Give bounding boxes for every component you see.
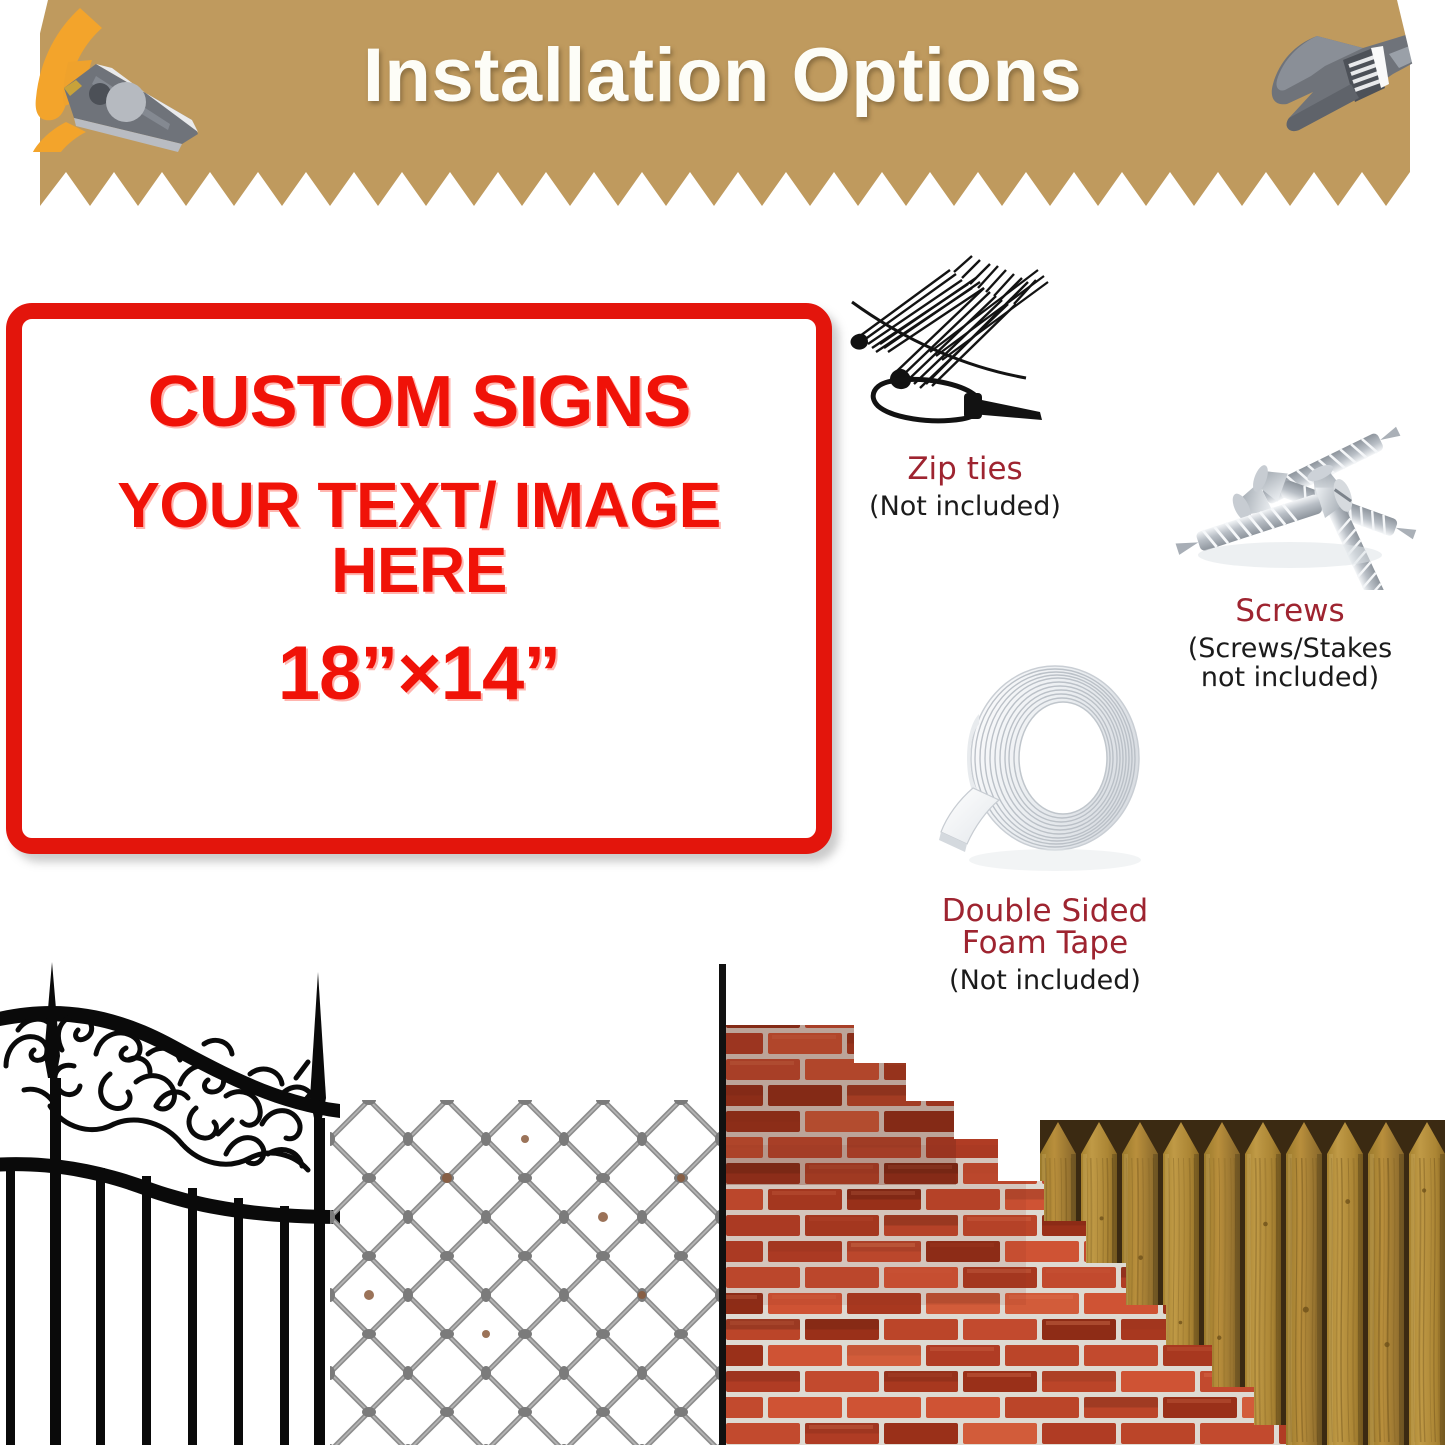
sign-subline: YOUR TEXT/ IMAGE HERE [22, 473, 816, 604]
brick-wall-icon [726, 1005, 1286, 1445]
chain-link-fence-icon [330, 1100, 720, 1445]
custom-sign-preview: CUSTOM SIGNS YOUR TEXT/ IMAGE HERE 18”×1… [6, 303, 832, 854]
wrought-iron-gate-icon [0, 958, 350, 1445]
header-banner: Installation Options [0, 0, 1445, 200]
tape-roll-icon [895, 660, 1195, 890]
sawtooth-edge-icon [40, 168, 1410, 208]
screws-icon [1140, 405, 1440, 590]
accessory-screws: Screws (Screws/Stakes not included) [1140, 405, 1440, 693]
page-title: Installation Options [0, 32, 1445, 119]
infographic-canvas: Installation Options CUSTOM SIGNS YOUR T… [0, 0, 1445, 1445]
zip-ties-label: Zip ties [830, 453, 1100, 485]
scene-divider [719, 964, 726, 1445]
zip-ties-note: (Not included) [830, 492, 1100, 521]
sign-dimensions: 18”×14” [278, 630, 560, 717]
accessory-zip-ties: Zip ties (Not included) [830, 248, 1100, 521]
zip-ties-icon [830, 248, 1100, 448]
sign-headline: CUSTOM SIGNS [148, 361, 691, 443]
screws-label: Screws [1140, 595, 1440, 627]
accessory-foam-tape: Double Sided Foam Tape (Not included) [895, 660, 1195, 996]
foam-tape-label: Double Sided Foam Tape [895, 895, 1195, 959]
foam-tape-note: (Not included) [895, 966, 1195, 995]
